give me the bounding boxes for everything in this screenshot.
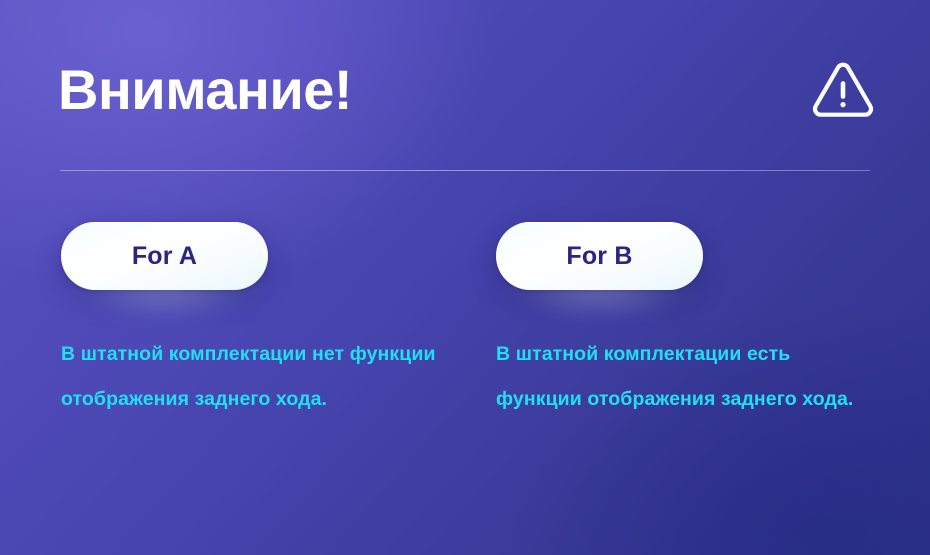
pill-for-b[interactable]: For B [496,222,703,290]
column-for-a-body: В штатной комплектации нет функции отобр… [61,290,443,422]
pill-for-a-label: For A [132,242,197,271]
column-for-b-body: В штатной комплектации есть функции отоб… [496,290,878,422]
header-divider [60,170,870,171]
pill-for-b-label: For B [566,242,632,271]
pill-for-a-button[interactable]: For A [61,222,268,290]
page-title: Внимание! [58,54,352,126]
column-for-a: For A В штатной комплектации нет функции… [61,222,461,422]
pill-for-b-button[interactable]: For B [496,222,703,290]
warning-triangle-icon [812,62,874,120]
warning-slide: Внимание! For A В штатной комплектации н… [0,0,930,555]
column-for-b: For B В штатной комплектации есть функци… [496,222,896,422]
pill-for-a[interactable]: For A [61,222,268,290]
